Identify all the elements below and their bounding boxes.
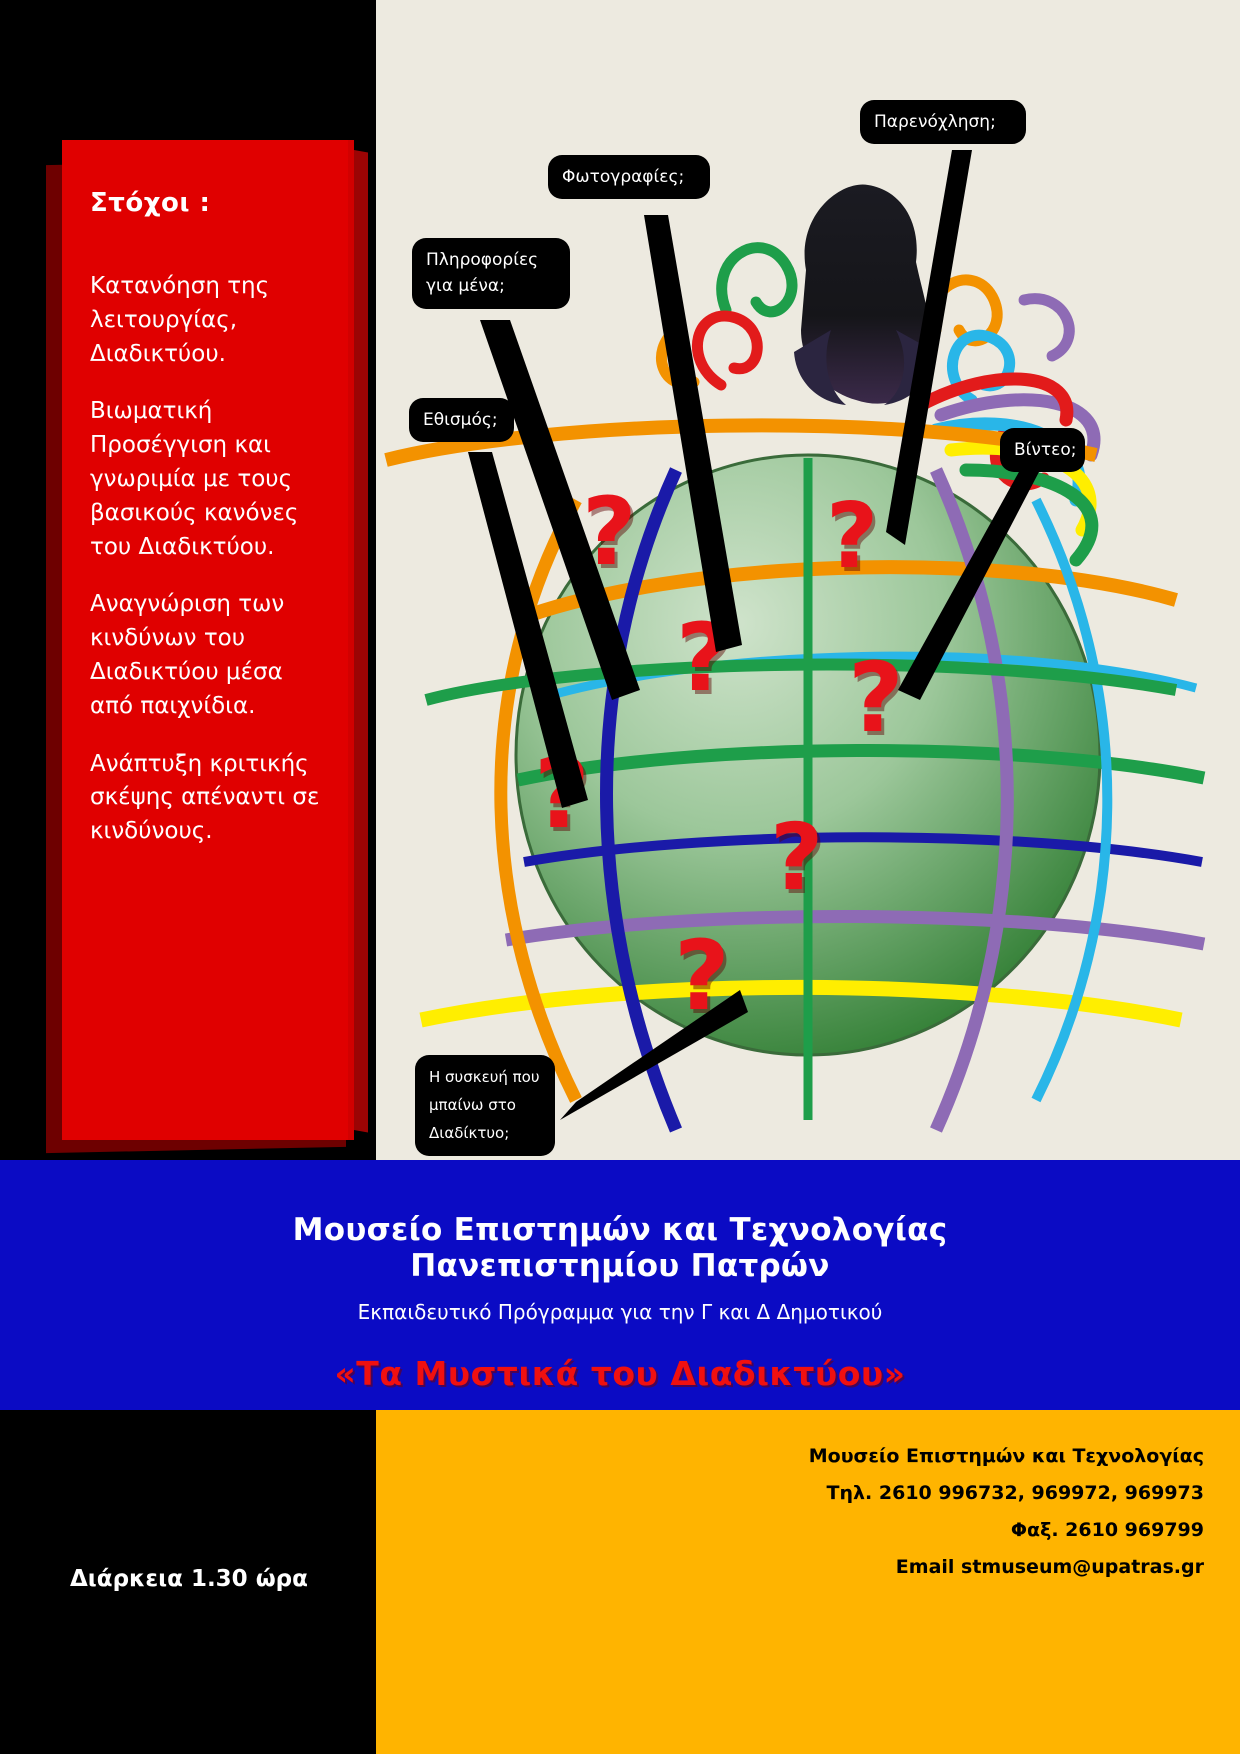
organization-banner: Μουσείο Επιστημών και Τεχνολογίας Πανεπι… — [0, 1160, 1240, 1410]
organization-name-line1: Μουσείο Επιστημών και Τεχνολογίας — [0, 1160, 1240, 1248]
duration-label: Διάρκεια 1.30 ώρα — [70, 1566, 308, 1592]
contact-email: Email stmuseum@upatras.gr — [376, 1549, 1204, 1586]
contact-name: Μουσείο Επιστημών και Τεχνολογίας — [376, 1438, 1204, 1475]
callout-info-about-me[interactable]: Πληροφορίες για μένα; — [412, 238, 570, 309]
contact-fax: Φαξ. 2610 969799 — [376, 1512, 1204, 1549]
callout-device[interactable]: Η συσκευή που μπαίνω στο Διαδίκτυο; — [415, 1055, 555, 1156]
poster-canvas: ? ? ? ? ? ? ? Παρενόχληση; Φωτογραφίες; … — [0, 0, 1240, 1754]
organization-name-line2: Πανεπιστημίου Πατρών — [0, 1248, 1240, 1284]
callout-harassment[interactable]: Παρενόχληση; — [860, 100, 1026, 144]
callout-photos[interactable]: Φωτογραφίες; — [548, 155, 710, 199]
callout-video[interactable]: Βίντεο; — [1000, 428, 1085, 472]
callout-addiction[interactable]: Εθισμός; — [409, 398, 514, 442]
poster-title: «Τα Μυστικά του Διαδικτύου» — [0, 1324, 1240, 1393]
contact-box: Μουσείο Επιστημών και Τεχνολογίας Τηλ. 2… — [376, 1410, 1240, 1754]
contact-phone: Τηλ. 2610 996732, 969972, 969973 — [376, 1475, 1204, 1512]
program-description: Εκπαιδευτικό Πρόγραμμα για την Γ και Δ Δ… — [0, 1284, 1240, 1324]
